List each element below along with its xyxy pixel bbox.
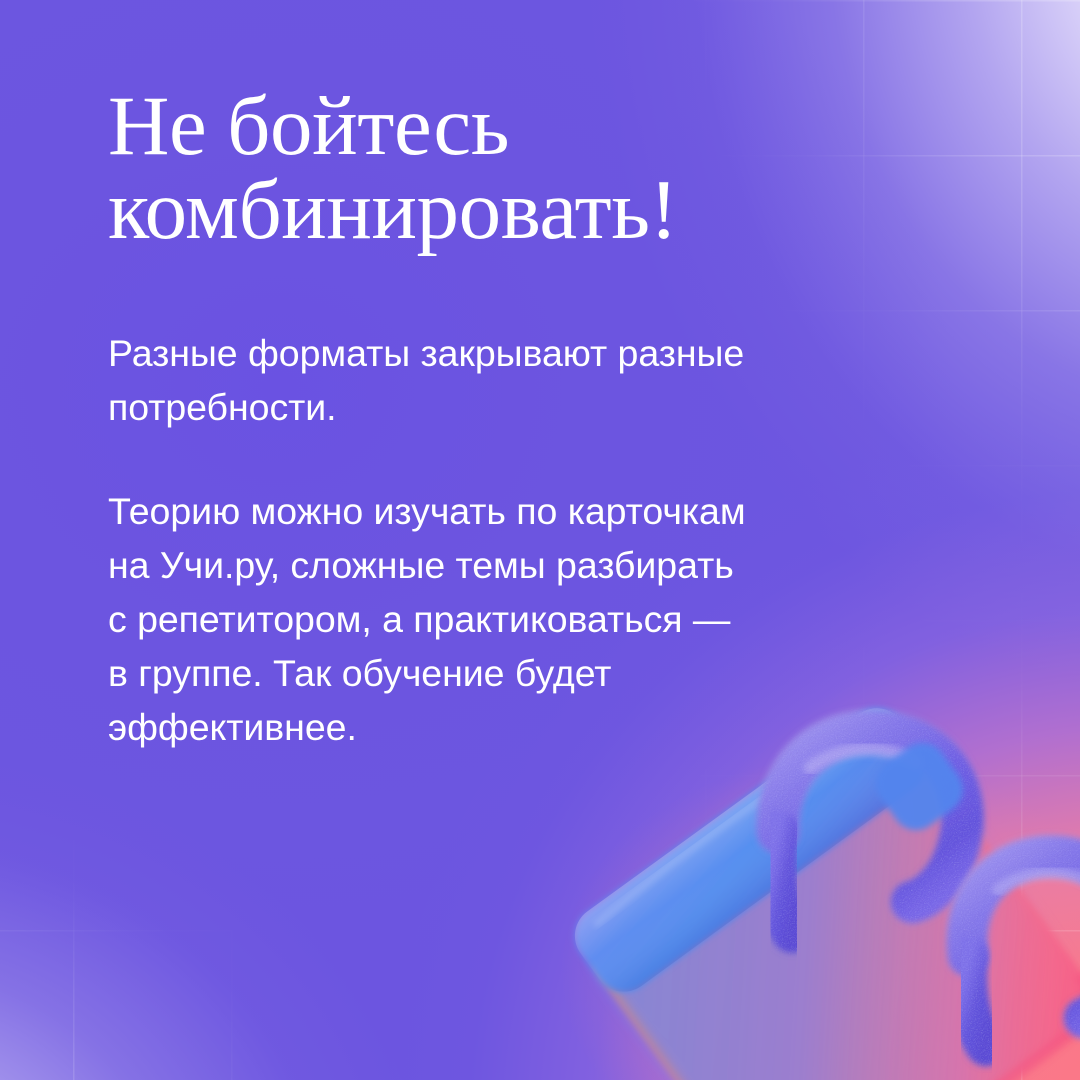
text-content: Не бойтесь комбинировать! Разные форматы… xyxy=(108,0,938,754)
body-copy: Разные форматы закрывают разные потребно… xyxy=(108,326,938,754)
headline: Не бойтесь комбинировать! xyxy=(108,0,938,252)
promo-card: Не бойтесь комбинировать! Разные форматы… xyxy=(0,0,1080,1080)
paragraph-2: Теорию можно изучать по карточкам на Учи… xyxy=(108,484,938,754)
paragraph-1: Разные форматы закрывают разные потребно… xyxy=(108,326,938,434)
